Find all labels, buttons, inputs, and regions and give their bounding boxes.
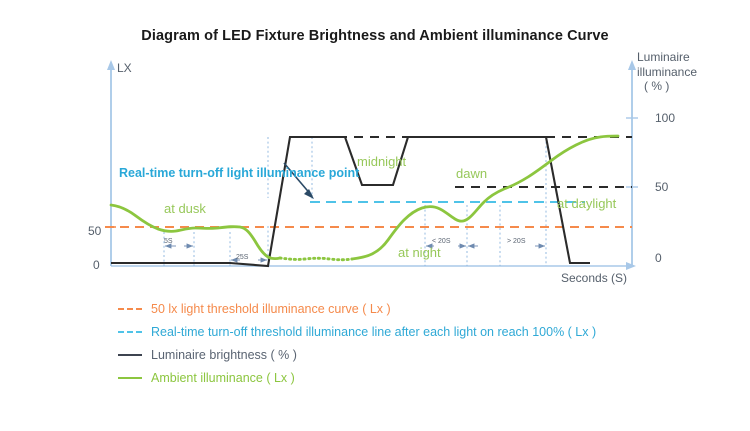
right-axis-tick-50: 50 xyxy=(655,180,668,194)
legend-swatch-dashed-cyan-icon xyxy=(118,331,142,333)
x-axis-title: Seconds (S) xyxy=(561,271,627,285)
interval-label-25s: 25S xyxy=(236,254,248,261)
interval-label-gt20s: > 20S xyxy=(507,238,526,245)
legend-item-ambient-illuminance: Ambient illuminance ( Lx ) xyxy=(118,367,678,388)
legend-label-turnoff-threshold: Real-time turn-off threshold illuminance… xyxy=(151,325,596,339)
legend-label-threshold-50lx: 50 lx light threshold illuminance curve … xyxy=(151,302,391,316)
annotation-at-daylight: at daylight xyxy=(557,196,616,211)
annotation-at-dusk: at dusk xyxy=(164,201,206,216)
legend-item-threshold-50lx: 50 lx light threshold illuminance curve … xyxy=(118,298,678,319)
right-axis-title-line3: ( % ) xyxy=(637,79,697,94)
annotation-dawn: dawn xyxy=(456,166,487,181)
left-axis-tick-0: 0 xyxy=(93,258,100,272)
annotation-at-night: at night xyxy=(398,245,441,260)
legend-label-luminaire-brightness: Luminaire brightness ( % ) xyxy=(151,348,297,362)
left-axis-title: LX xyxy=(117,61,132,75)
annotation-realtime-turnoff-point: Real-time turn-off light illuminance poi… xyxy=(119,166,359,180)
left-axis xyxy=(107,60,115,266)
annotation-midnight: midnight xyxy=(357,154,406,169)
legend-item-turnoff-threshold: Real-time turn-off threshold illuminance… xyxy=(118,321,678,342)
legend-label-ambient-illuminance: Ambient illuminance ( Lx ) xyxy=(151,371,295,385)
right-axis-tick-0: 0 xyxy=(655,251,662,265)
right-axis-tick-100: 100 xyxy=(655,111,675,125)
legend-swatch-dashed-orange-icon xyxy=(118,308,142,310)
legend-swatch-solid-dark-icon xyxy=(118,354,142,356)
interval-label-lt20s: < 20S xyxy=(432,238,451,245)
right-axis-title: Luminaire illuminance ( % ) xyxy=(637,50,697,94)
chart-legend: 50 lx light threshold illuminance curve … xyxy=(118,298,678,390)
right-axis-title-line2: illuminance xyxy=(637,65,697,80)
interval-label-5s: 5S xyxy=(164,238,173,245)
right-axis-title-line1: Luminaire xyxy=(637,50,697,65)
chart-canvas: Diagram of LED Fixture Brightness and Am… xyxy=(0,0,750,431)
legend-item-luminaire-brightness: Luminaire brightness ( % ) xyxy=(118,344,678,365)
legend-swatch-solid-green-icon xyxy=(118,377,142,379)
left-axis-tick-50: 50 xyxy=(88,224,101,238)
